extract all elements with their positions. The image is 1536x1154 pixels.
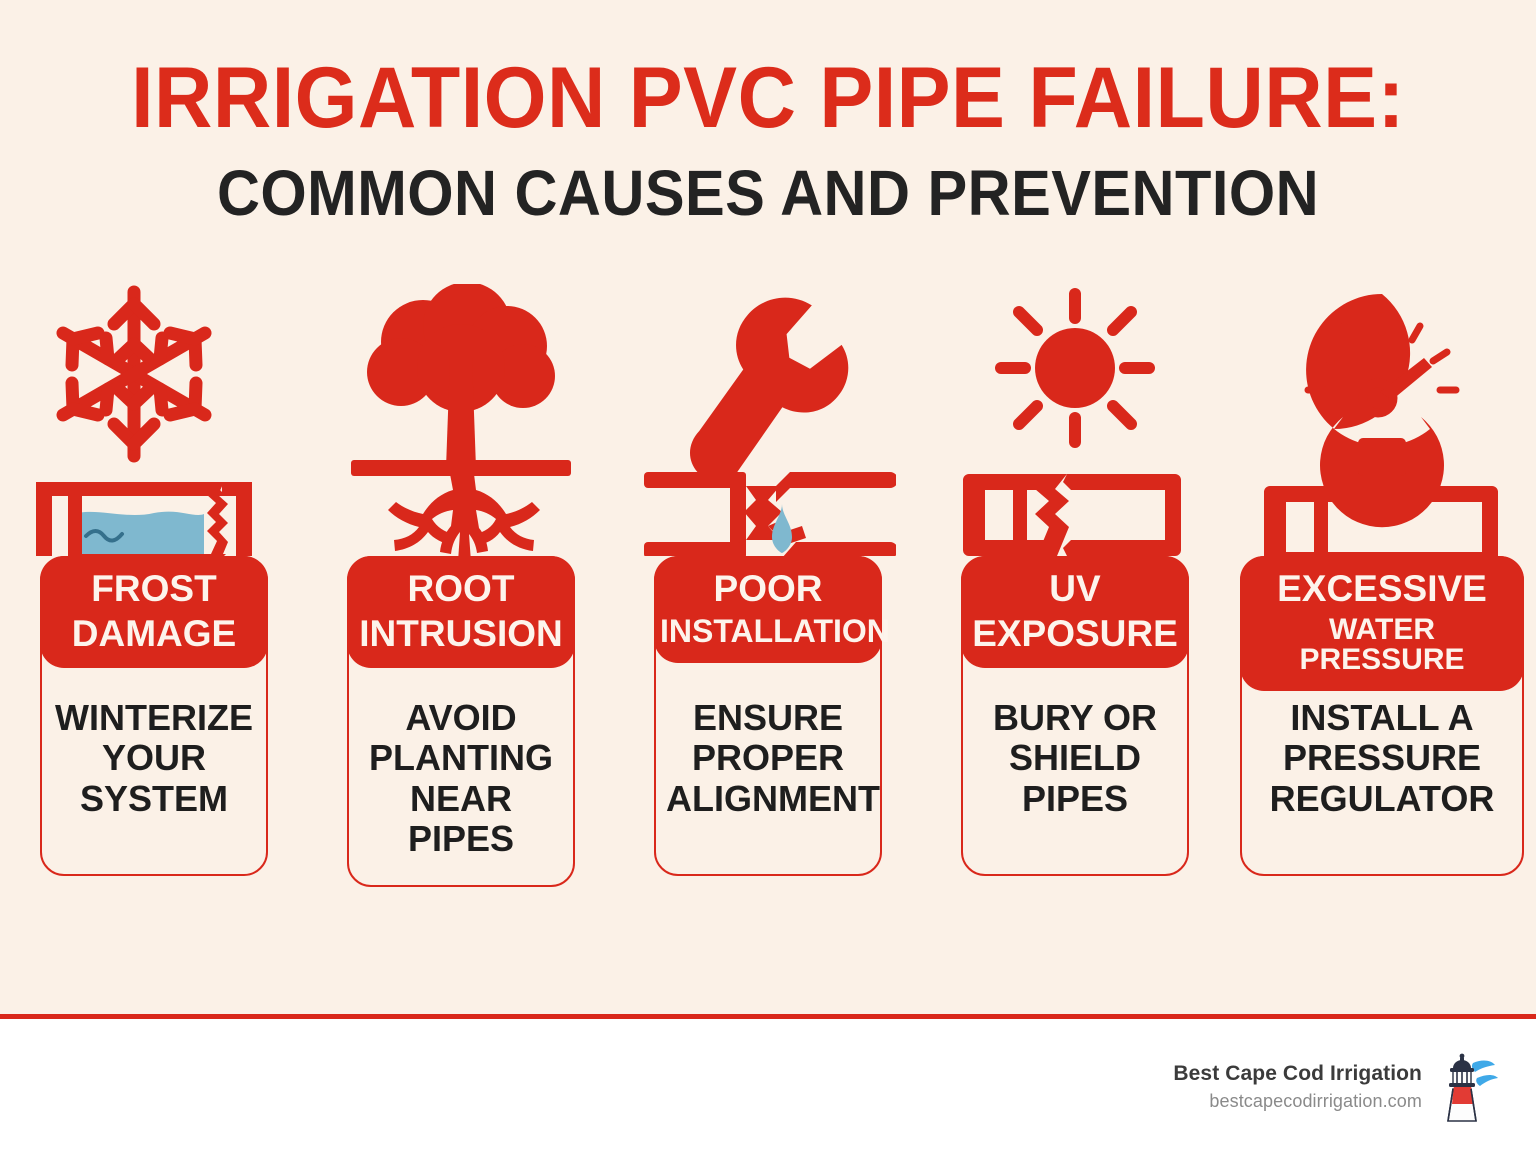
column-excessive-water-pressure: EXCESSIVE WATER PRESSURE INSTALL A PRESS…: [1236, 278, 1528, 898]
card-root-intrusion[interactable]: ROOT INTRUSION AVOID PLANTING NEAR PIPES: [347, 556, 575, 887]
card-header-line1: UV: [967, 570, 1183, 607]
card-body-line: WINTERIZE: [52, 698, 256, 738]
card-header-excessive-water-pressure: EXCESSIVE WATER PRESSURE: [1240, 556, 1524, 691]
lighthouse-splash-logo: [1436, 1051, 1498, 1123]
card-body-line: BURY OR: [973, 698, 1177, 738]
card-header-line2: INSTALLATION: [660, 615, 876, 647]
brand-block: Best Cape Cod Irrigation bestcapecodirri…: [1173, 1062, 1422, 1112]
card-header-line1: ROOT: [353, 570, 569, 607]
sun-cracked-pipe-icon: [929, 278, 1221, 556]
pressure-gauge-pipe-icon: [1236, 278, 1528, 556]
card-body-line: NEAR PIPES: [359, 779, 563, 860]
snowflake-frozen-pipe-icon: [8, 278, 300, 556]
card-header-uv-exposure: UV EXPOSURE: [961, 556, 1189, 668]
card-header-line2: WATER PRESSURE: [1246, 615, 1518, 675]
card-body-line: PRESSURE: [1252, 738, 1512, 778]
card-frost-damage[interactable]: FROST DAMAGE WINTERIZE YOUR SYSTEM: [40, 556, 268, 876]
column-poor-installation: POOR INSTALLATION ENSURE PROPER ALIGNMEN…: [622, 278, 914, 898]
card-body-line: PLANTING: [359, 738, 563, 778]
card-body-line: ALIGNMENT: [666, 779, 870, 819]
card-excessive-water-pressure[interactable]: EXCESSIVE WATER PRESSURE INSTALL A PRESS…: [1240, 556, 1524, 876]
card-body-root-intrusion: AVOID PLANTING NEAR PIPES: [349, 686, 573, 885]
card-body-frost-damage: WINTERIZE YOUR SYSTEM: [42, 686, 266, 845]
card-body-line: REGULATOR: [1252, 779, 1512, 819]
card-body-line: INSTALL A: [1252, 698, 1512, 738]
card-body-line: YOUR: [52, 738, 256, 778]
title-block: IRRIGATION PVC PIPE FAILURE: COMMON CAUS…: [0, 55, 1536, 225]
card-body-uv-exposure: BURY OR SHIELD PIPES: [963, 686, 1187, 845]
card-body-line: ENSURE: [666, 698, 870, 738]
card-header-poor-installation: POOR INSTALLATION: [654, 556, 882, 663]
cause-columns: FROST DAMAGE WINTERIZE YOUR SYSTEM: [0, 278, 1536, 898]
card-header-line1: POOR: [660, 570, 876, 607]
card-body-poor-installation: ENSURE PROPER ALIGNMENT: [656, 686, 880, 845]
infographic-poster: IRRIGATION PVC PIPE FAILURE: COMMON CAUS…: [0, 0, 1536, 1154]
tree-roots-pipe-icon: [315, 278, 607, 556]
page-subtitle: COMMON CAUSES AND PREVENTION: [54, 161, 1482, 225]
card-body-line: SHIELD: [973, 738, 1177, 778]
page-title: IRRIGATION PVC PIPE FAILURE:: [46, 55, 1490, 141]
column-root-intrusion: ROOT INTRUSION AVOID PLANTING NEAR PIPES: [315, 278, 607, 898]
wrench-misaligned-pipe-leak-icon: [622, 278, 914, 556]
card-header-line2: EXPOSURE: [967, 615, 1183, 652]
column-frost-damage: FROST DAMAGE WINTERIZE YOUR SYSTEM: [8, 278, 300, 898]
brand-url[interactable]: bestcapecodirrigation.com: [1173, 1091, 1422, 1112]
card-header-frost-damage: FROST DAMAGE: [40, 556, 268, 668]
column-uv-exposure: UV EXPOSURE BURY OR SHIELD PIPES: [929, 278, 1221, 898]
brand-name: Best Cape Cod Irrigation: [1173, 1062, 1422, 1086]
card-poor-installation[interactable]: POOR INSTALLATION ENSURE PROPER ALIGNMEN…: [654, 556, 882, 876]
card-header-line1: FROST: [46, 570, 262, 607]
card-body-line: PIPES: [973, 779, 1177, 819]
card-body-line: PROPER: [666, 738, 870, 778]
footer: Best Cape Cod Irrigation bestcapecodirri…: [0, 1019, 1536, 1154]
card-header-line1: EXCESSIVE: [1246, 570, 1518, 607]
card-body-excessive-water-pressure: INSTALL A PRESSURE REGULATOR: [1242, 686, 1522, 845]
card-body-line: AVOID: [359, 698, 563, 738]
card-header-line2: INTRUSION: [353, 615, 569, 652]
card-header-line2: DAMAGE: [46, 615, 262, 652]
card-header-root-intrusion: ROOT INTRUSION: [347, 556, 575, 668]
card-body-line: SYSTEM: [52, 779, 256, 819]
card-uv-exposure[interactable]: UV EXPOSURE BURY OR SHIELD PIPES: [961, 556, 1189, 876]
